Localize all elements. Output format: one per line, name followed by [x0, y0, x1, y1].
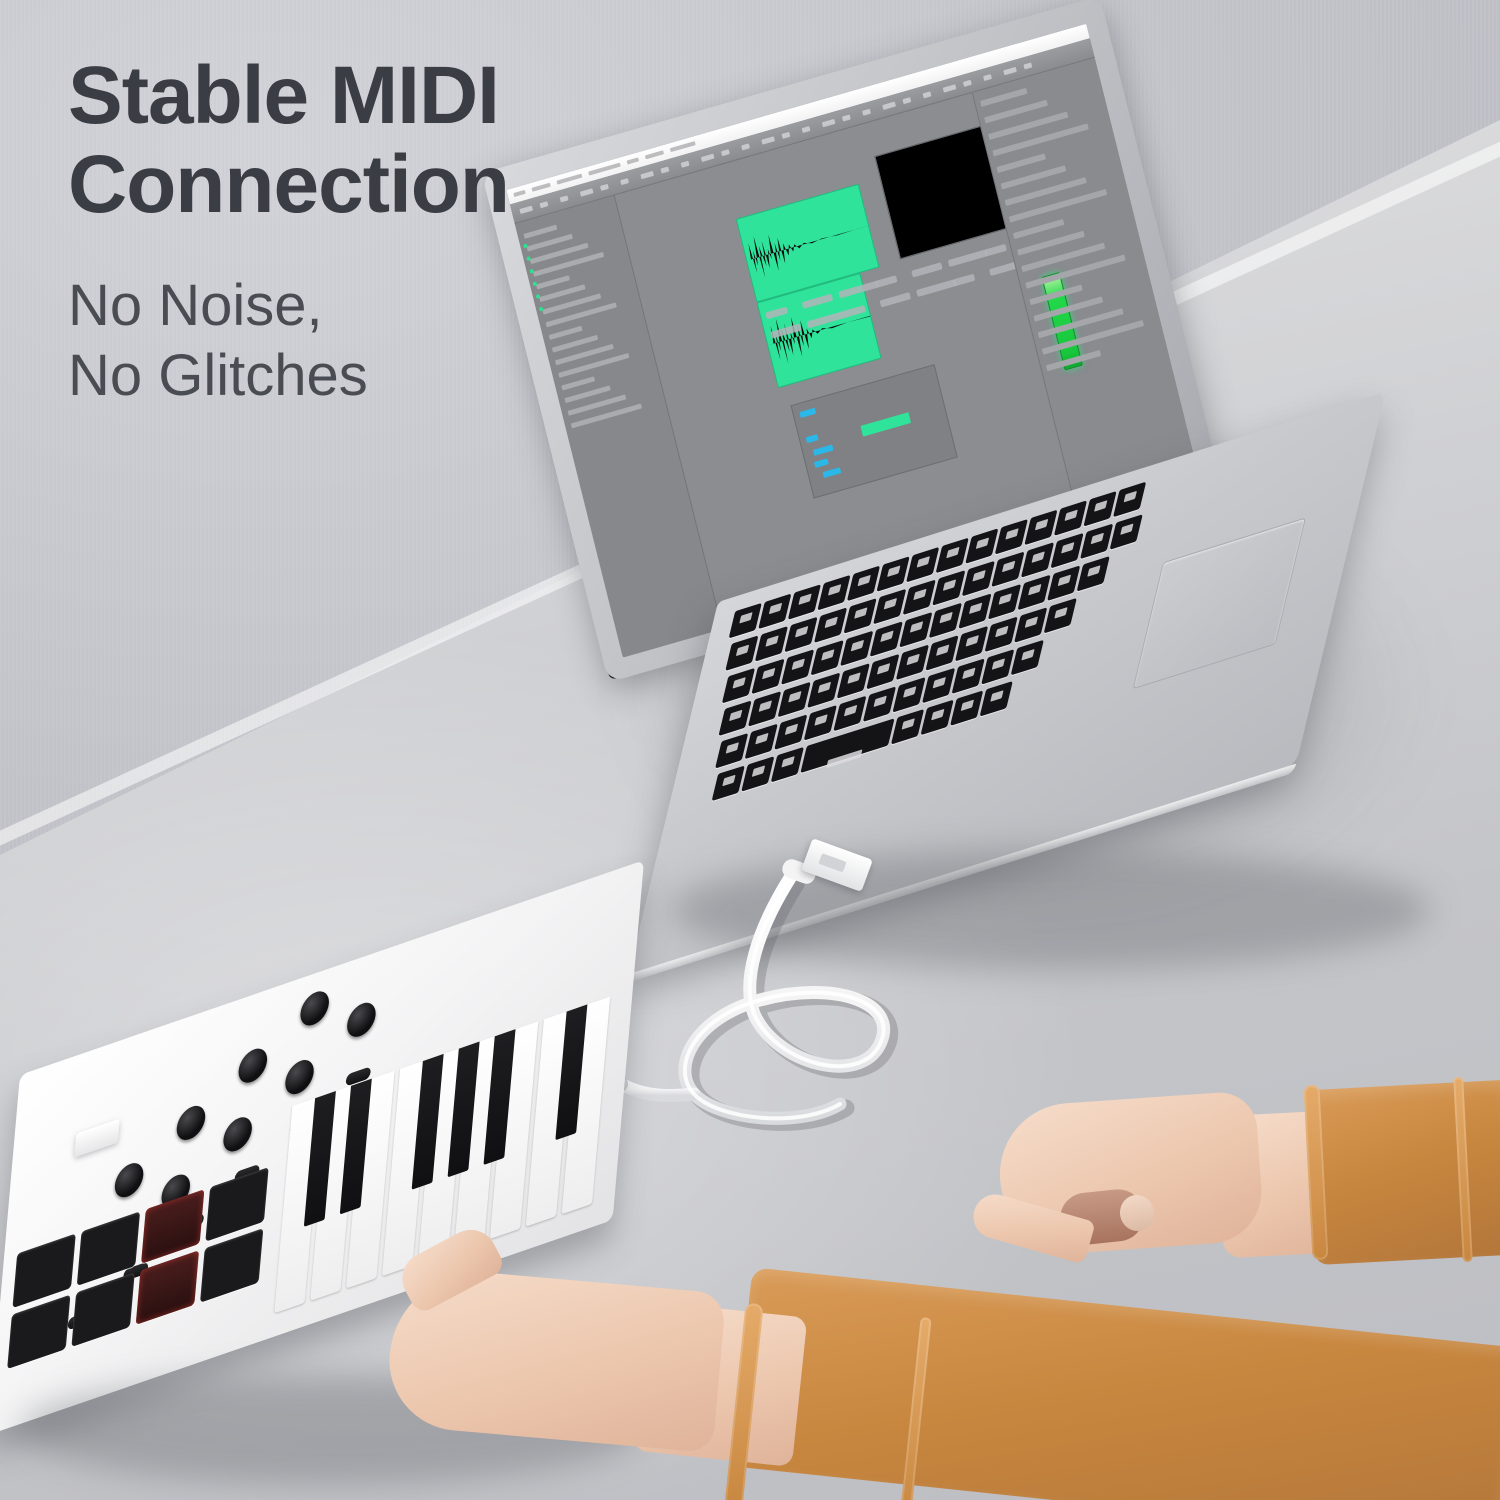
keyboard-key[interactable]: [965, 528, 998, 564]
key-legend: [723, 775, 735, 786]
transport-control[interactable]: [540, 201, 549, 208]
key-legend: [1058, 575, 1070, 586]
transport-control[interactable]: [519, 206, 533, 214]
keyboard-key[interactable]: [741, 756, 774, 792]
transport-control[interactable]: [943, 84, 957, 92]
keyboard-key[interactable]: [758, 594, 791, 630]
browser-row[interactable]: [561, 376, 595, 390]
key-legend: [769, 603, 781, 614]
key-legend: [799, 594, 811, 605]
transport-control[interactable]: [681, 161, 690, 168]
keyboard-key[interactable]: [891, 709, 924, 745]
key-legend: [910, 621, 922, 632]
key-legend: [726, 742, 738, 753]
arrangement-button[interactable]: [911, 262, 942, 277]
menubar-item[interactable]: [627, 157, 639, 164]
arrangement-button[interactable]: [880, 292, 911, 307]
key-legend: [903, 687, 915, 698]
key-legend: [782, 756, 794, 767]
page-title: Stable MIDI Connection: [68, 52, 509, 229]
marketing-copy: Stable MIDI Connection No Noise, No Glit…: [68, 52, 509, 410]
arrangement-button[interactable]: [948, 249, 988, 267]
key-legend: [943, 580, 955, 591]
transport-control[interactable]: [842, 114, 851, 121]
keyboard-key[interactable]: [1024, 510, 1057, 546]
keyboard-key[interactable]: [722, 668, 755, 704]
key-legend: [973, 570, 985, 581]
knob-1[interactable]: [299, 987, 330, 1029]
keyboard-key[interactable]: [784, 617, 817, 653]
transport-control[interactable]: [1023, 62, 1032, 69]
transport-control[interactable]: [640, 171, 654, 179]
transport-control[interactable]: [741, 143, 750, 150]
midi-note-block[interactable]: [814, 458, 829, 468]
trackpad[interactable]: [1132, 517, 1306, 689]
key-legend: [815, 715, 827, 726]
key-legend: [848, 673, 860, 684]
key-legend: [1002, 561, 1014, 572]
keyboard-key[interactable]: [781, 649, 814, 685]
browser-row[interactable]: [523, 225, 557, 239]
keyboard-key[interactable]: [955, 626, 988, 662]
keyboard-key[interactable]: [1113, 482, 1146, 518]
transport-control[interactable]: [600, 184, 609, 191]
transport-control[interactable]: [822, 119, 836, 127]
keyboard-key[interactable]: [863, 686, 896, 722]
keyboard-key[interactable]: [833, 696, 866, 732]
transport-control[interactable]: [761, 136, 775, 144]
key-legend: [966, 635, 978, 646]
keyboard-key[interactable]: [745, 724, 778, 760]
keyboard-key[interactable]: [981, 649, 1014, 685]
transport-control[interactable]: [862, 109, 871, 116]
keyboard-key[interactable]: [1017, 575, 1050, 611]
keyboard-key[interactable]: [925, 635, 958, 671]
key-legend: [907, 654, 919, 665]
keyboard-key[interactable]: [712, 765, 745, 801]
key-legend: [1088, 566, 1100, 577]
transport-control[interactable]: [580, 188, 594, 196]
keyboard-key[interactable]: [1083, 491, 1116, 527]
key-legend: [795, 626, 807, 637]
keyboard-key[interactable]: [1080, 524, 1113, 560]
key-legend: [1006, 528, 1018, 539]
key-legend: [902, 718, 914, 729]
key-legend: [785, 724, 797, 735]
key-legend: [858, 575, 870, 586]
midi-note-block[interactable]: [813, 444, 834, 455]
browser-row[interactable]: [549, 326, 583, 340]
mixer-row[interactable]: [1013, 219, 1064, 239]
key-legend: [888, 566, 900, 577]
arrangement-button[interactable]: [916, 279, 956, 297]
knob-4[interactable]: [284, 1056, 315, 1098]
transport-control[interactable]: [560, 195, 569, 202]
key-legend: [1094, 500, 1106, 511]
keyboard-key[interactable]: [995, 519, 1028, 555]
usb-icon: [818, 853, 846, 872]
transport-control[interactable]: [1003, 67, 1017, 75]
arrangement-button[interactable]: [953, 274, 976, 287]
key-legend: [991, 691, 1003, 702]
key-legend: [855, 608, 867, 619]
keyboard-key[interactable]: [755, 626, 788, 662]
transport-control[interactable]: [620, 178, 629, 185]
keyboard-key[interactable]: [936, 538, 969, 574]
midi-clip-block[interactable]: [860, 412, 911, 436]
key-legend: [826, 750, 863, 769]
laptop: [600, 150, 1460, 1050]
transport-control[interactable]: [701, 154, 715, 162]
keyboard-key[interactable]: [804, 705, 837, 741]
keyboard-key[interactable]: [896, 645, 929, 681]
transport-control[interactable]: [802, 126, 811, 133]
key-legend: [729, 710, 741, 721]
keyboard-key[interactable]: [876, 556, 909, 592]
keyboard-key[interactable]: [715, 733, 748, 769]
left-sleeve: [732, 1267, 1500, 1500]
midi-note-block[interactable]: [799, 408, 816, 418]
key-legend: [740, 612, 752, 623]
keyboard-key[interactable]: [892, 677, 925, 713]
key-legend: [961, 700, 973, 711]
keyboard-key[interactable]: [817, 575, 850, 611]
keyboard-key[interactable]: [840, 631, 873, 667]
key-legend: [933, 677, 945, 688]
left-hand-playing: [390, 1255, 1500, 1500]
transport-control[interactable]: [781, 132, 790, 139]
key-legend: [818, 682, 830, 693]
key-legend: [969, 603, 981, 614]
key-legend: [851, 640, 863, 651]
midi-note-block[interactable]: [823, 467, 842, 478]
keyboard-key[interactable]: [873, 589, 906, 625]
key-legend: [976, 538, 988, 549]
keyboard-key[interactable]: [903, 579, 936, 615]
key-legend: [828, 584, 840, 595]
keyboard-key[interactable]: [985, 617, 1018, 653]
keyboard-key[interactable]: [962, 561, 995, 597]
key-legend: [992, 659, 1004, 670]
keyboard-key[interactable]: [991, 551, 1024, 587]
knob-2[interactable]: [346, 999, 377, 1041]
transport-control[interactable]: [923, 91, 932, 98]
key-legend: [1091, 533, 1103, 544]
key-legend: [881, 631, 893, 642]
menubar-item[interactable]: [513, 190, 525, 197]
keyboard-key[interactable]: [866, 654, 899, 690]
menubar-item[interactable]: [670, 141, 696, 152]
transport-control[interactable]: [882, 102, 896, 110]
keyboard-key[interactable]: [1021, 542, 1054, 578]
clip-grid-panel: [790, 364, 957, 499]
key-legend: [884, 598, 896, 609]
key-legend: [1035, 519, 1047, 530]
key-legend: [932, 709, 944, 720]
key-legend: [936, 645, 948, 656]
keyboard-key[interactable]: [847, 566, 880, 602]
key-legend: [874, 696, 886, 707]
keyboard-key[interactable]: [811, 640, 844, 676]
transport-control[interactable]: [983, 74, 992, 81]
keyboard-key[interactable]: [788, 584, 821, 620]
keyboard-key[interactable]: [718, 700, 751, 736]
keyboard-key[interactable]: [929, 603, 962, 639]
keyboard-key[interactable]: [952, 658, 985, 694]
key-legend: [792, 659, 804, 670]
keyboard-key[interactable]: [1050, 533, 1083, 569]
keyboard-key[interactable]: [751, 659, 784, 695]
keyboard-key[interactable]: [843, 598, 876, 634]
key-legend: [825, 617, 837, 628]
key-legend: [736, 645, 748, 656]
keyboard-key[interactable]: [837, 663, 870, 699]
keyboard-key[interactable]: [1077, 556, 1110, 592]
menubar-item[interactable]: [645, 150, 664, 159]
menubar-item[interactable]: [557, 174, 583, 185]
key-legend: [1065, 510, 1077, 521]
key-legend: [733, 677, 745, 688]
keyboard-key[interactable]: [807, 672, 840, 708]
page-subtitle: No Noise, No Glitches: [68, 271, 509, 410]
scene-canvas: Stable MIDI Connection No Noise, No Glit…: [0, 0, 1500, 1500]
midi-note-block[interactable]: [806, 434, 819, 443]
key-legend: [1124, 491, 1136, 502]
keyboard-key[interactable]: [922, 668, 955, 704]
browser-row[interactable]: [536, 275, 570, 289]
keyboard-key[interactable]: [774, 714, 807, 750]
key-legend: [766, 636, 778, 647]
key-legend: [1032, 552, 1044, 563]
keyboard-key[interactable]: [1047, 565, 1080, 601]
keyboard-key[interactable]: [814, 607, 847, 643]
keyboard-key[interactable]: [1044, 598, 1077, 634]
keyboard-key[interactable]: [778, 682, 811, 718]
key-legend: [947, 547, 959, 558]
key-legend: [752, 766, 764, 777]
keyboard-key[interactable]: [1054, 500, 1087, 536]
arrangement-button[interactable]: [875, 275, 898, 288]
keyboard-key[interactable]: [1014, 607, 1047, 643]
key-legend: [1022, 649, 1034, 660]
keyboard-key[interactable]: [920, 700, 953, 736]
key-legend: [759, 701, 771, 712]
key-legend: [756, 733, 768, 744]
key-legend: [963, 668, 975, 679]
key-legend: [996, 626, 1008, 637]
transport-control[interactable]: [902, 97, 911, 104]
transport-control[interactable]: [721, 149, 730, 156]
knob-7[interactable]: [113, 1159, 144, 1201]
transport-control[interactable]: [963, 80, 972, 87]
arrangement-button[interactable]: [984, 244, 1007, 257]
knob-3[interactable]: [237, 1044, 268, 1086]
keyboard-key[interactable]: [725, 635, 758, 671]
keyboard-key[interactable]: [771, 747, 804, 783]
key-legend: [1121, 524, 1133, 535]
key-legend: [1061, 542, 1073, 553]
key-legend: [1029, 584, 1041, 595]
key-legend: [822, 649, 834, 660]
key-legend: [917, 556, 929, 567]
keyboard-key[interactable]: [950, 690, 983, 726]
keyboard-key[interactable]: [1011, 640, 1044, 676]
knob-5[interactable]: [175, 1102, 206, 1144]
key-legend: [1025, 617, 1037, 628]
keyboard-key[interactable]: [932, 570, 965, 606]
keyboard-key[interactable]: [748, 691, 781, 727]
key-legend: [914, 589, 926, 600]
key-legend: [762, 668, 774, 679]
key-legend: [844, 705, 856, 716]
mixer-row[interactable]: [996, 153, 1045, 173]
keyboard-key[interactable]: [870, 621, 903, 657]
keyboard-key[interactable]: [958, 593, 991, 629]
knob-6[interactable]: [222, 1113, 253, 1155]
key-legend: [877, 663, 889, 674]
key-legend: [999, 594, 1011, 605]
key-legend: [1055, 607, 1067, 618]
transport-control[interactable]: [660, 166, 669, 173]
mixer-row[interactable]: [980, 88, 1028, 107]
key-legend: [940, 612, 952, 623]
keyboard-key[interactable]: [980, 681, 1013, 717]
keyboard-key[interactable]: [988, 584, 1021, 620]
key-legend: [789, 691, 801, 702]
keyboard-key[interactable]: [1110, 514, 1143, 550]
keyboard-key[interactable]: [729, 603, 762, 639]
keyboard-key[interactable]: [906, 547, 939, 583]
keyboard-key[interactable]: [899, 612, 932, 648]
menubar-item[interactable]: [532, 183, 551, 192]
